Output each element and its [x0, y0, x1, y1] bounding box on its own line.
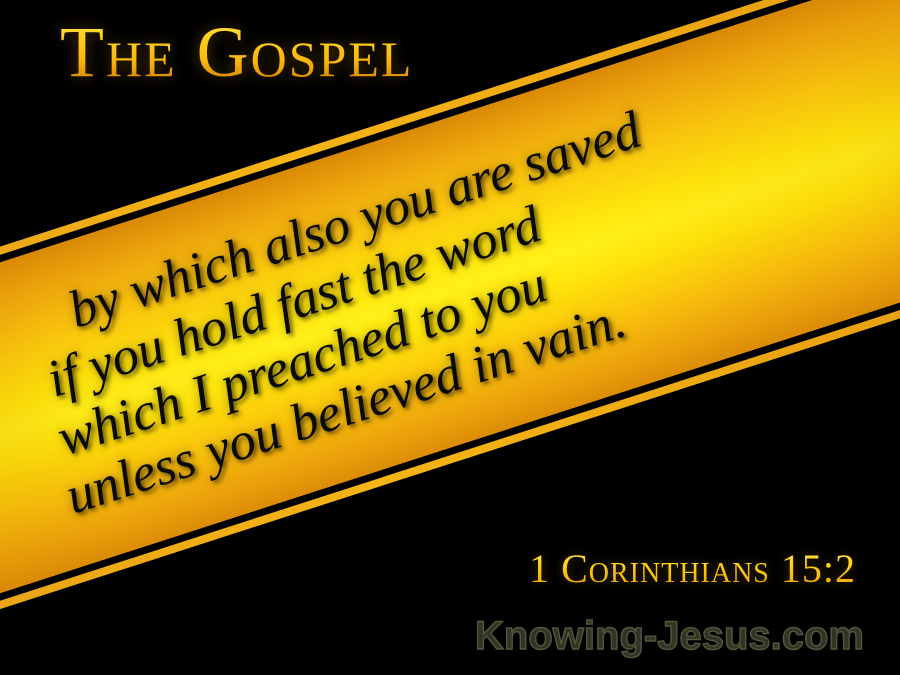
- scripture-reference: 1 Corinthians 15:2: [529, 545, 856, 592]
- site-watermark: Knowing-Jesus.com: [475, 614, 864, 659]
- page-title: The Gospel: [60, 16, 413, 88]
- scripture-image-canvas: The Gospel The Gospel by which also you …: [0, 0, 900, 675]
- diagonal-verse-banner: by which also you are saved if you hold …: [0, 0, 900, 625]
